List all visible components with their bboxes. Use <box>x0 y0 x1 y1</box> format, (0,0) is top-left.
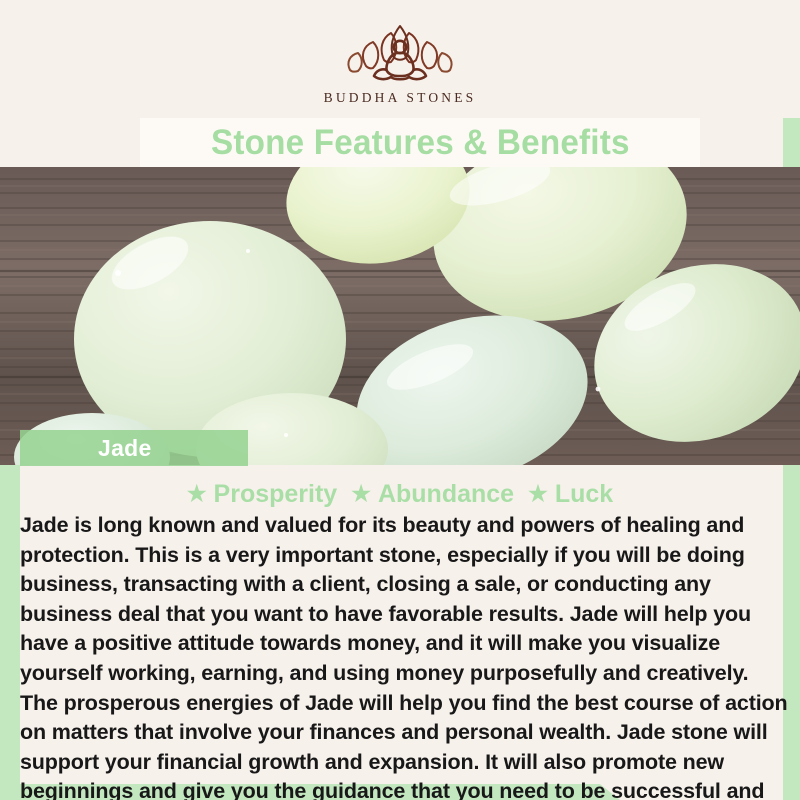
benefits-row: ★ Prosperity ★ Abundance ★ Luck <box>0 478 800 510</box>
description-text: Jade is long known and valued for its be… <box>20 511 790 800</box>
star-icon: ★ <box>351 483 371 505</box>
stone-name: Jade <box>98 435 152 462</box>
benefit-item-0: ★ Prosperity <box>187 480 337 509</box>
brand-logo: BUDDHA STONES <box>0 22 800 106</box>
jade-stones-photo <box>0 167 800 465</box>
poster-canvas: BUDDHA STONES Stone Features & Benefits <box>0 0 800 800</box>
header: BUDDHA STONES <box>0 0 800 118</box>
page-title: Stone Features & Benefits <box>211 123 630 163</box>
star-icon: ★ <box>187 483 207 505</box>
photo-graphic <box>0 167 800 465</box>
benefit-label: Prosperity <box>214 480 338 509</box>
stone-name-badge: Jade <box>20 430 248 466</box>
title-banner: Stone Features & Benefits <box>140 118 700 168</box>
benefit-item-1: ★ Abundance <box>351 480 514 509</box>
benefit-item-2: ★ Luck <box>528 480 613 509</box>
lotus-meditation-icon <box>336 22 464 84</box>
benefit-label: Luck <box>555 480 613 509</box>
benefit-label: Abundance <box>378 480 514 509</box>
brand-name: BUDDHA STONES <box>324 90 477 106</box>
star-icon: ★ <box>528 483 548 505</box>
